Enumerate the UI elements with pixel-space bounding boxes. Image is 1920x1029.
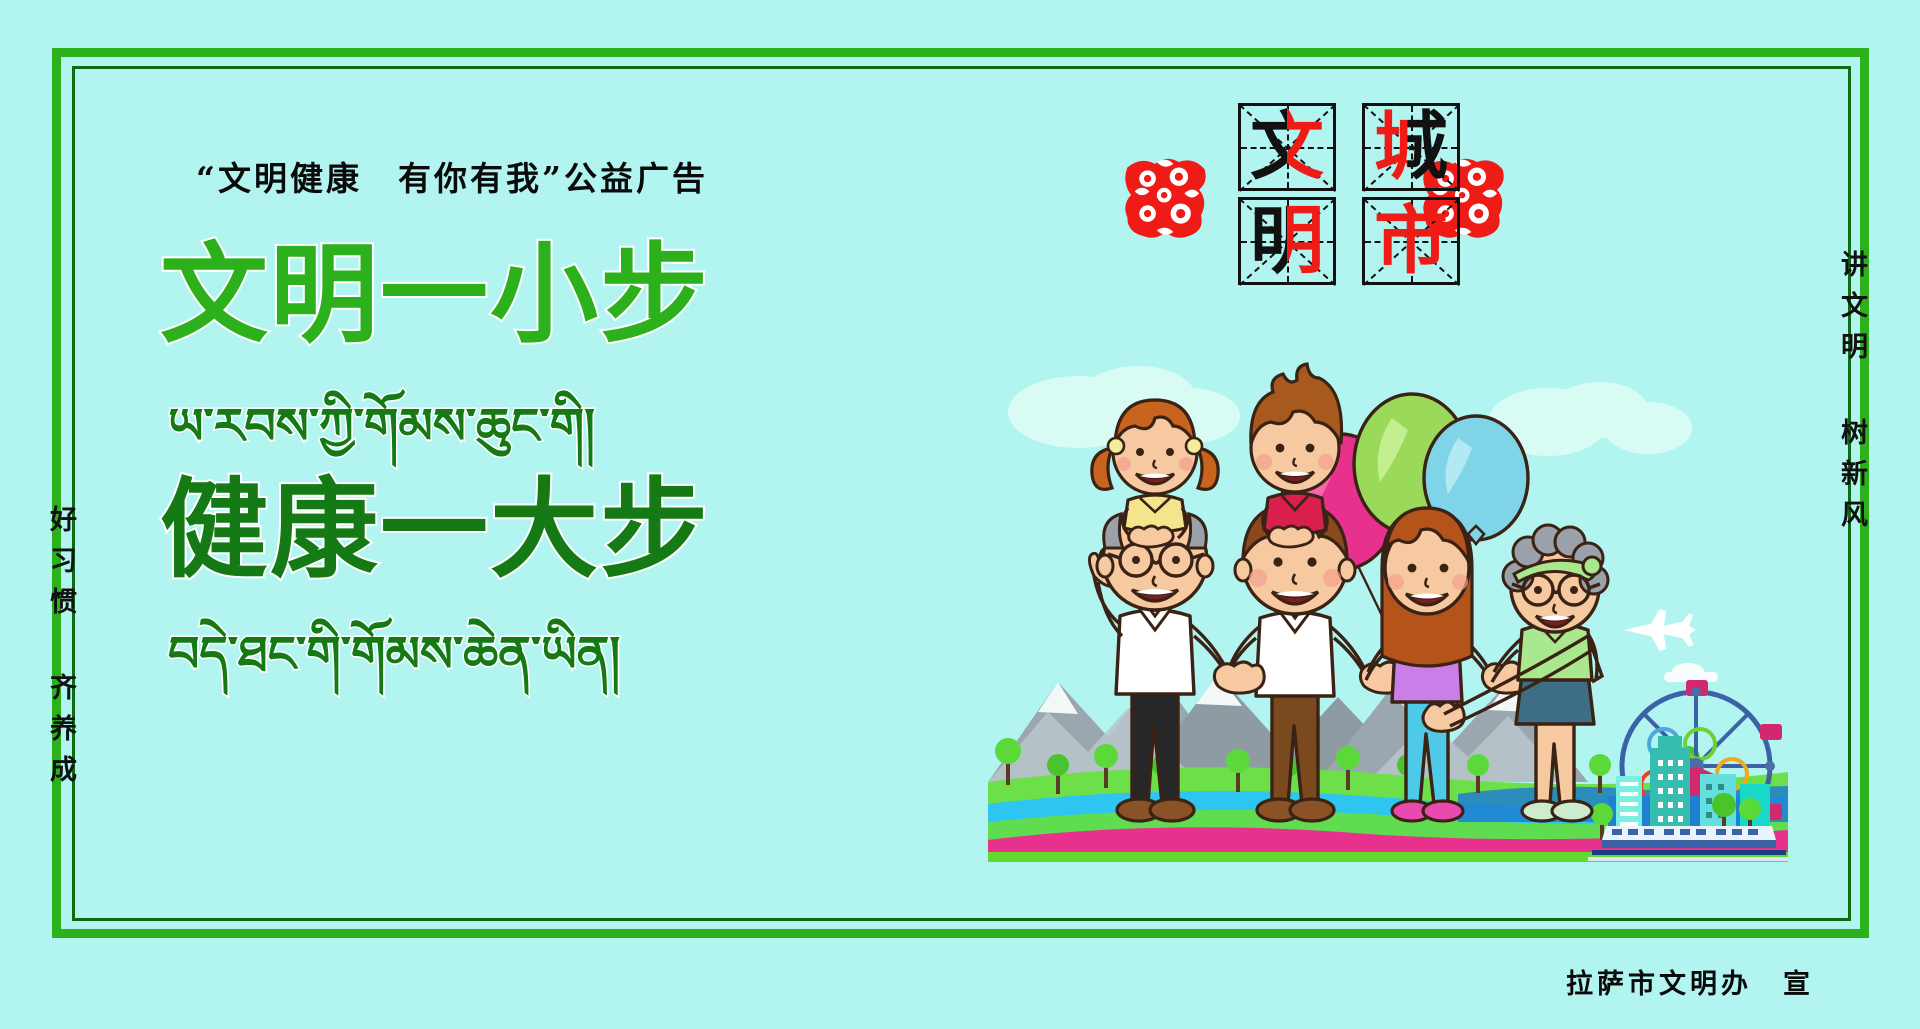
vertical-text-left: 好习惯 齐养成 bbox=[45, 505, 75, 796]
seal-character: 市 bbox=[1365, 200, 1457, 282]
slogan-line-2-tibetan: བདེ་ཐང་གི་གོམས་ཆེན་ཡིན། bbox=[168, 600, 620, 738]
slogan-line-2-chinese: 健康一大步 bbox=[160, 472, 710, 590]
grid-cell-shi: 市 bbox=[1362, 197, 1460, 285]
seal-character: 文 bbox=[1241, 106, 1333, 188]
family-illustration bbox=[988, 352, 1788, 862]
grid-cell-wen: 文 bbox=[1238, 103, 1336, 191]
public-service-poster: “文明健康 有你有我”公益广告 文明一小步 ཡ་རབས་ཀྱི་གོམས་ཆུང… bbox=[0, 0, 1920, 1029]
character-grid: 文 城 明 市 bbox=[1238, 103, 1460, 285]
grid-cell-cheng: 城 bbox=[1362, 103, 1460, 191]
poster-headline: “文明健康 有你有我”公益广告 bbox=[196, 152, 708, 200]
grid-cell-ming: 明 bbox=[1238, 197, 1336, 285]
seal-character: 明 bbox=[1241, 200, 1333, 282]
slogan-line-1-chinese: 文明一小步 bbox=[160, 237, 710, 355]
vertical-text-right: 讲文明 树新风 bbox=[1836, 250, 1866, 541]
seal-character: 城 bbox=[1365, 106, 1457, 188]
footer-signature: 拉萨市文明办 宣 bbox=[1566, 962, 1814, 1001]
papercut-ornament-icon bbox=[1120, 151, 1212, 243]
civilized-city-seal-block: 文 城 明 市 bbox=[1120, 95, 1510, 295]
